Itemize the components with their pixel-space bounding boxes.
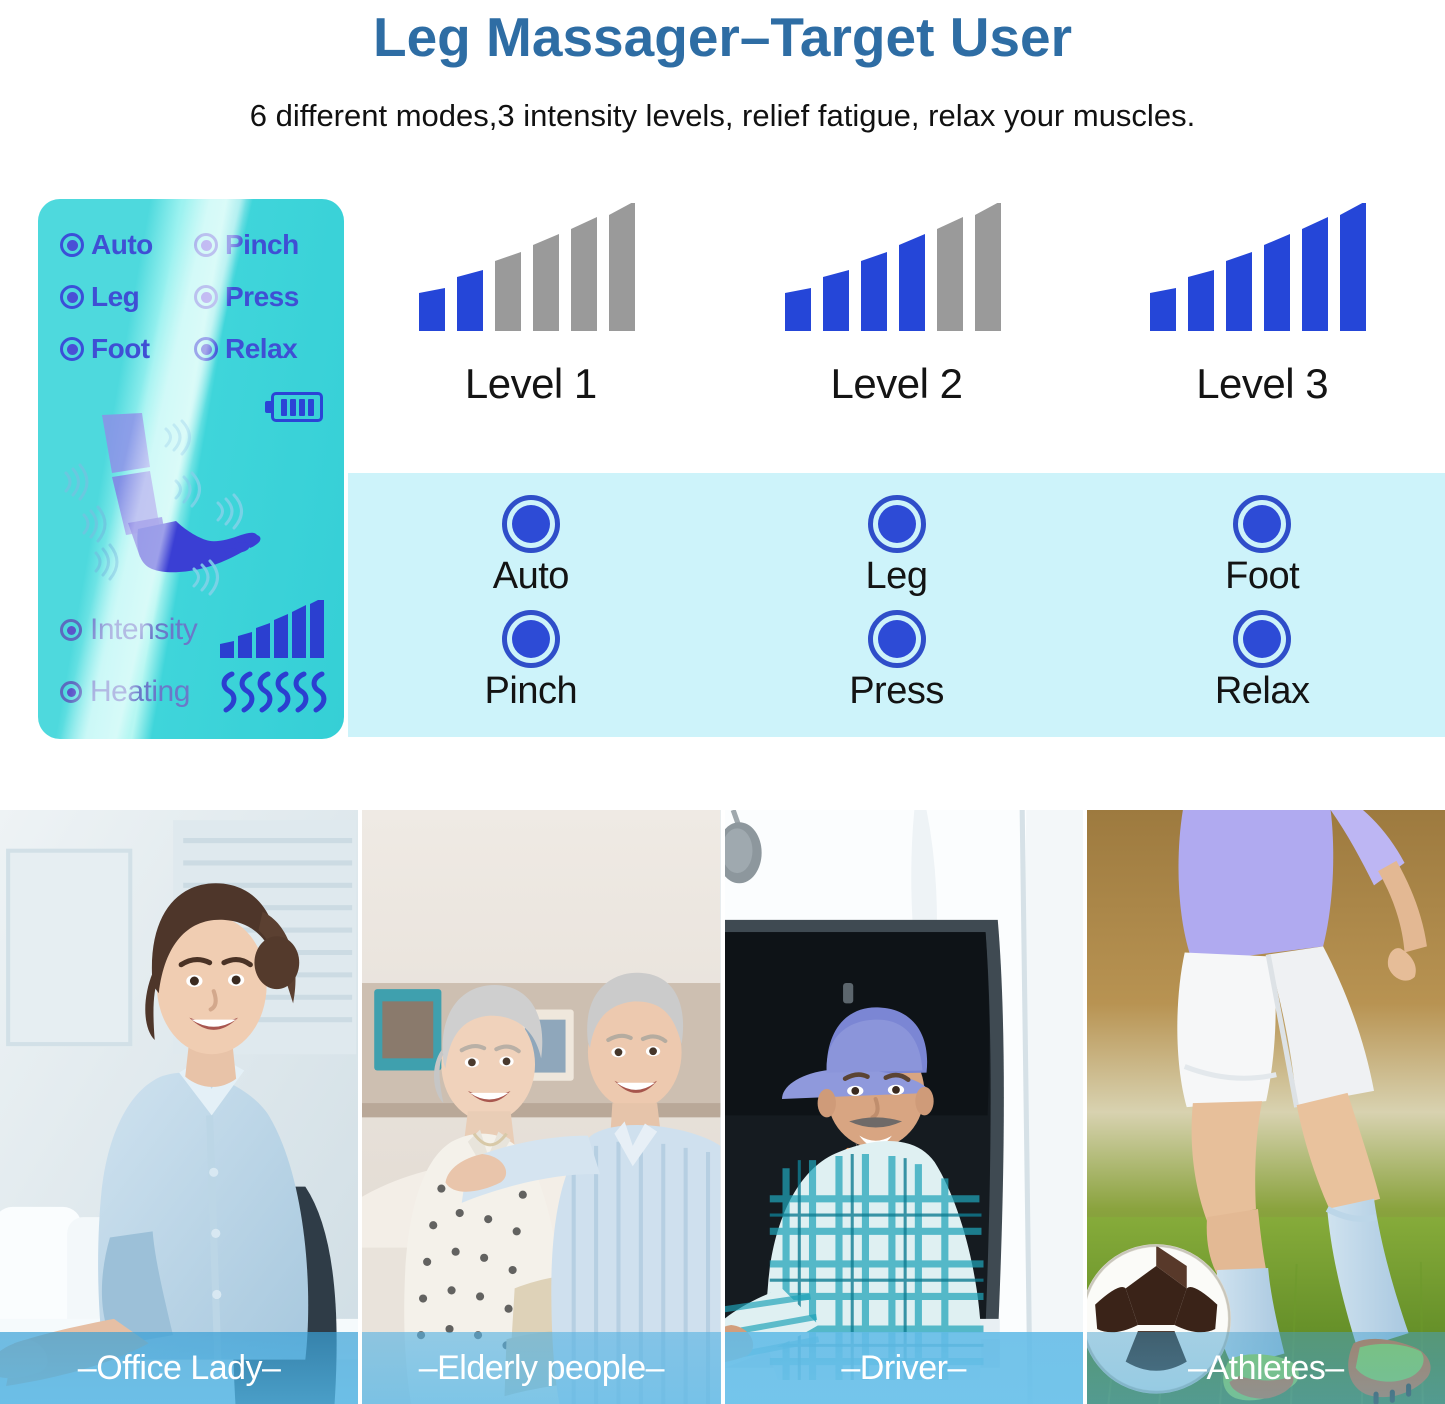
level-label: Level 1 [465, 360, 597, 408]
photo-caption-bar: –Elderly people– [362, 1332, 720, 1404]
panel-mode-label: Foot [91, 333, 150, 365]
panel-mode-press[interactable]: Press [194, 281, 328, 313]
leg-foot-massage-icon [38, 411, 344, 596]
radio-icon [60, 681, 82, 703]
photo-office-lady: –Office Lady– [0, 810, 358, 1404]
radio-icon [60, 619, 82, 641]
signal-bars-icon [781, 203, 1013, 335]
level-2-bars [781, 205, 1013, 335]
radio-icon [194, 285, 218, 309]
mode-label: Leg [866, 555, 928, 598]
page-subtitle: 6 different modes,3 intensity levels, re… [0, 96, 1445, 136]
photo-caption-bar: –Office Lady– [0, 1332, 358, 1404]
photo-caption-bar: –Driver– [725, 1332, 1083, 1404]
mode-column-1: Auto Pinch [348, 473, 714, 737]
panel-mode-list: Auto Pinch Leg Press Foot Relax [38, 229, 344, 365]
mode-button-press[interactable]: Press [849, 610, 944, 713]
photo-caption: –Office Lady– [78, 1349, 281, 1388]
panel-mode-label: Auto [91, 229, 153, 261]
smiling-woman-at-office-desk-image [0, 810, 358, 1404]
photo-athletes: –Athletes– [1087, 810, 1445, 1404]
signal-bars-icon [415, 203, 647, 335]
radio-icon [60, 233, 84, 257]
level-column-2: Level 2 [714, 205, 1080, 470]
truck-driver-in-cab-image [725, 810, 1083, 1404]
photo-caption-bar: –Athletes– [1087, 1332, 1445, 1404]
panel-mode-leg[interactable]: Leg [60, 281, 194, 313]
mode-button-auto[interactable]: Auto [493, 495, 569, 598]
radio-icon [60, 337, 84, 361]
panel-setting-label: Heating [90, 675, 190, 709]
leg-massager-control-panel: Auto Pinch Leg Press Foot Relax [38, 199, 344, 739]
signal-bars-icon [1146, 203, 1378, 335]
level-column-3: Level 3 [1079, 205, 1445, 470]
level-label: Level 2 [831, 360, 963, 408]
panel-mode-label: Relax [225, 333, 297, 365]
radio-icon [194, 233, 218, 257]
radio-icon [502, 495, 560, 553]
panel-mode-label: Press [225, 281, 299, 313]
mode-label: Foot [1225, 555, 1299, 598]
mode-label: Auto [493, 555, 569, 598]
panel-setting-heating[interactable]: Heating [60, 661, 330, 723]
photo-elderly-people: –Elderly people– [362, 810, 720, 1404]
panel-mode-pinch[interactable]: Pinch [194, 229, 328, 261]
radio-icon [194, 337, 218, 361]
mode-selector-band: Auto Pinch Leg Press Foot [348, 473, 1445, 737]
panel-setting-intensity[interactable]: Intensity [60, 599, 330, 661]
radio-icon [502, 610, 560, 668]
level-label: Level 3 [1196, 360, 1328, 408]
photo-caption: –Driver– [841, 1349, 965, 1388]
radio-icon [868, 495, 926, 553]
target-user-photo-strip: –Office Lady– [0, 810, 1445, 1404]
mode-column-2: Leg Press [714, 473, 1080, 737]
radio-icon [868, 610, 926, 668]
level-column-1: Level 1 [348, 205, 714, 470]
photo-caption: –Elderly people– [419, 1349, 664, 1388]
panel-mode-label: Leg [91, 281, 139, 313]
panel-mode-foot[interactable]: Foot [60, 333, 194, 365]
photo-driver: –Driver– [725, 810, 1083, 1404]
panel-mode-relax[interactable]: Relax [194, 333, 328, 365]
soccer-player-legs-with-ball-image [1087, 810, 1445, 1404]
page-title: Leg Massager–Target User [0, 4, 1445, 70]
panel-mode-auto[interactable]: Auto [60, 229, 194, 261]
mode-button-pinch[interactable]: Pinch [485, 610, 578, 713]
radio-icon [1233, 495, 1291, 553]
level-3-bars [1146, 205, 1378, 335]
mode-label: Pinch [485, 670, 578, 713]
radio-icon [1233, 610, 1291, 668]
mode-button-foot[interactable]: Foot [1225, 495, 1299, 598]
level-1-bars [415, 205, 647, 335]
photo-caption: –Athletes– [1188, 1349, 1344, 1388]
product-infographic: Leg Massager–Target User 6 different mod… [0, 0, 1445, 1404]
panel-settings: Intensity Heating [38, 599, 344, 723]
heat-waves-icon [218, 668, 330, 716]
panel-setting-label: Intensity [90, 613, 197, 647]
mode-button-leg[interactable]: Leg [866, 495, 928, 598]
signal-bars-icon [218, 600, 330, 660]
mode-button-relax[interactable]: Relax [1215, 610, 1310, 713]
radio-icon [60, 285, 84, 309]
mode-label: Relax [1215, 670, 1310, 713]
intensity-level-chart: Level 1 Level 2 [348, 205, 1445, 470]
mode-label: Press [849, 670, 944, 713]
panel-mode-label: Pinch [225, 229, 299, 261]
senior-couple-on-sofa-image [362, 810, 720, 1404]
mode-column-3: Foot Relax [1079, 473, 1445, 737]
